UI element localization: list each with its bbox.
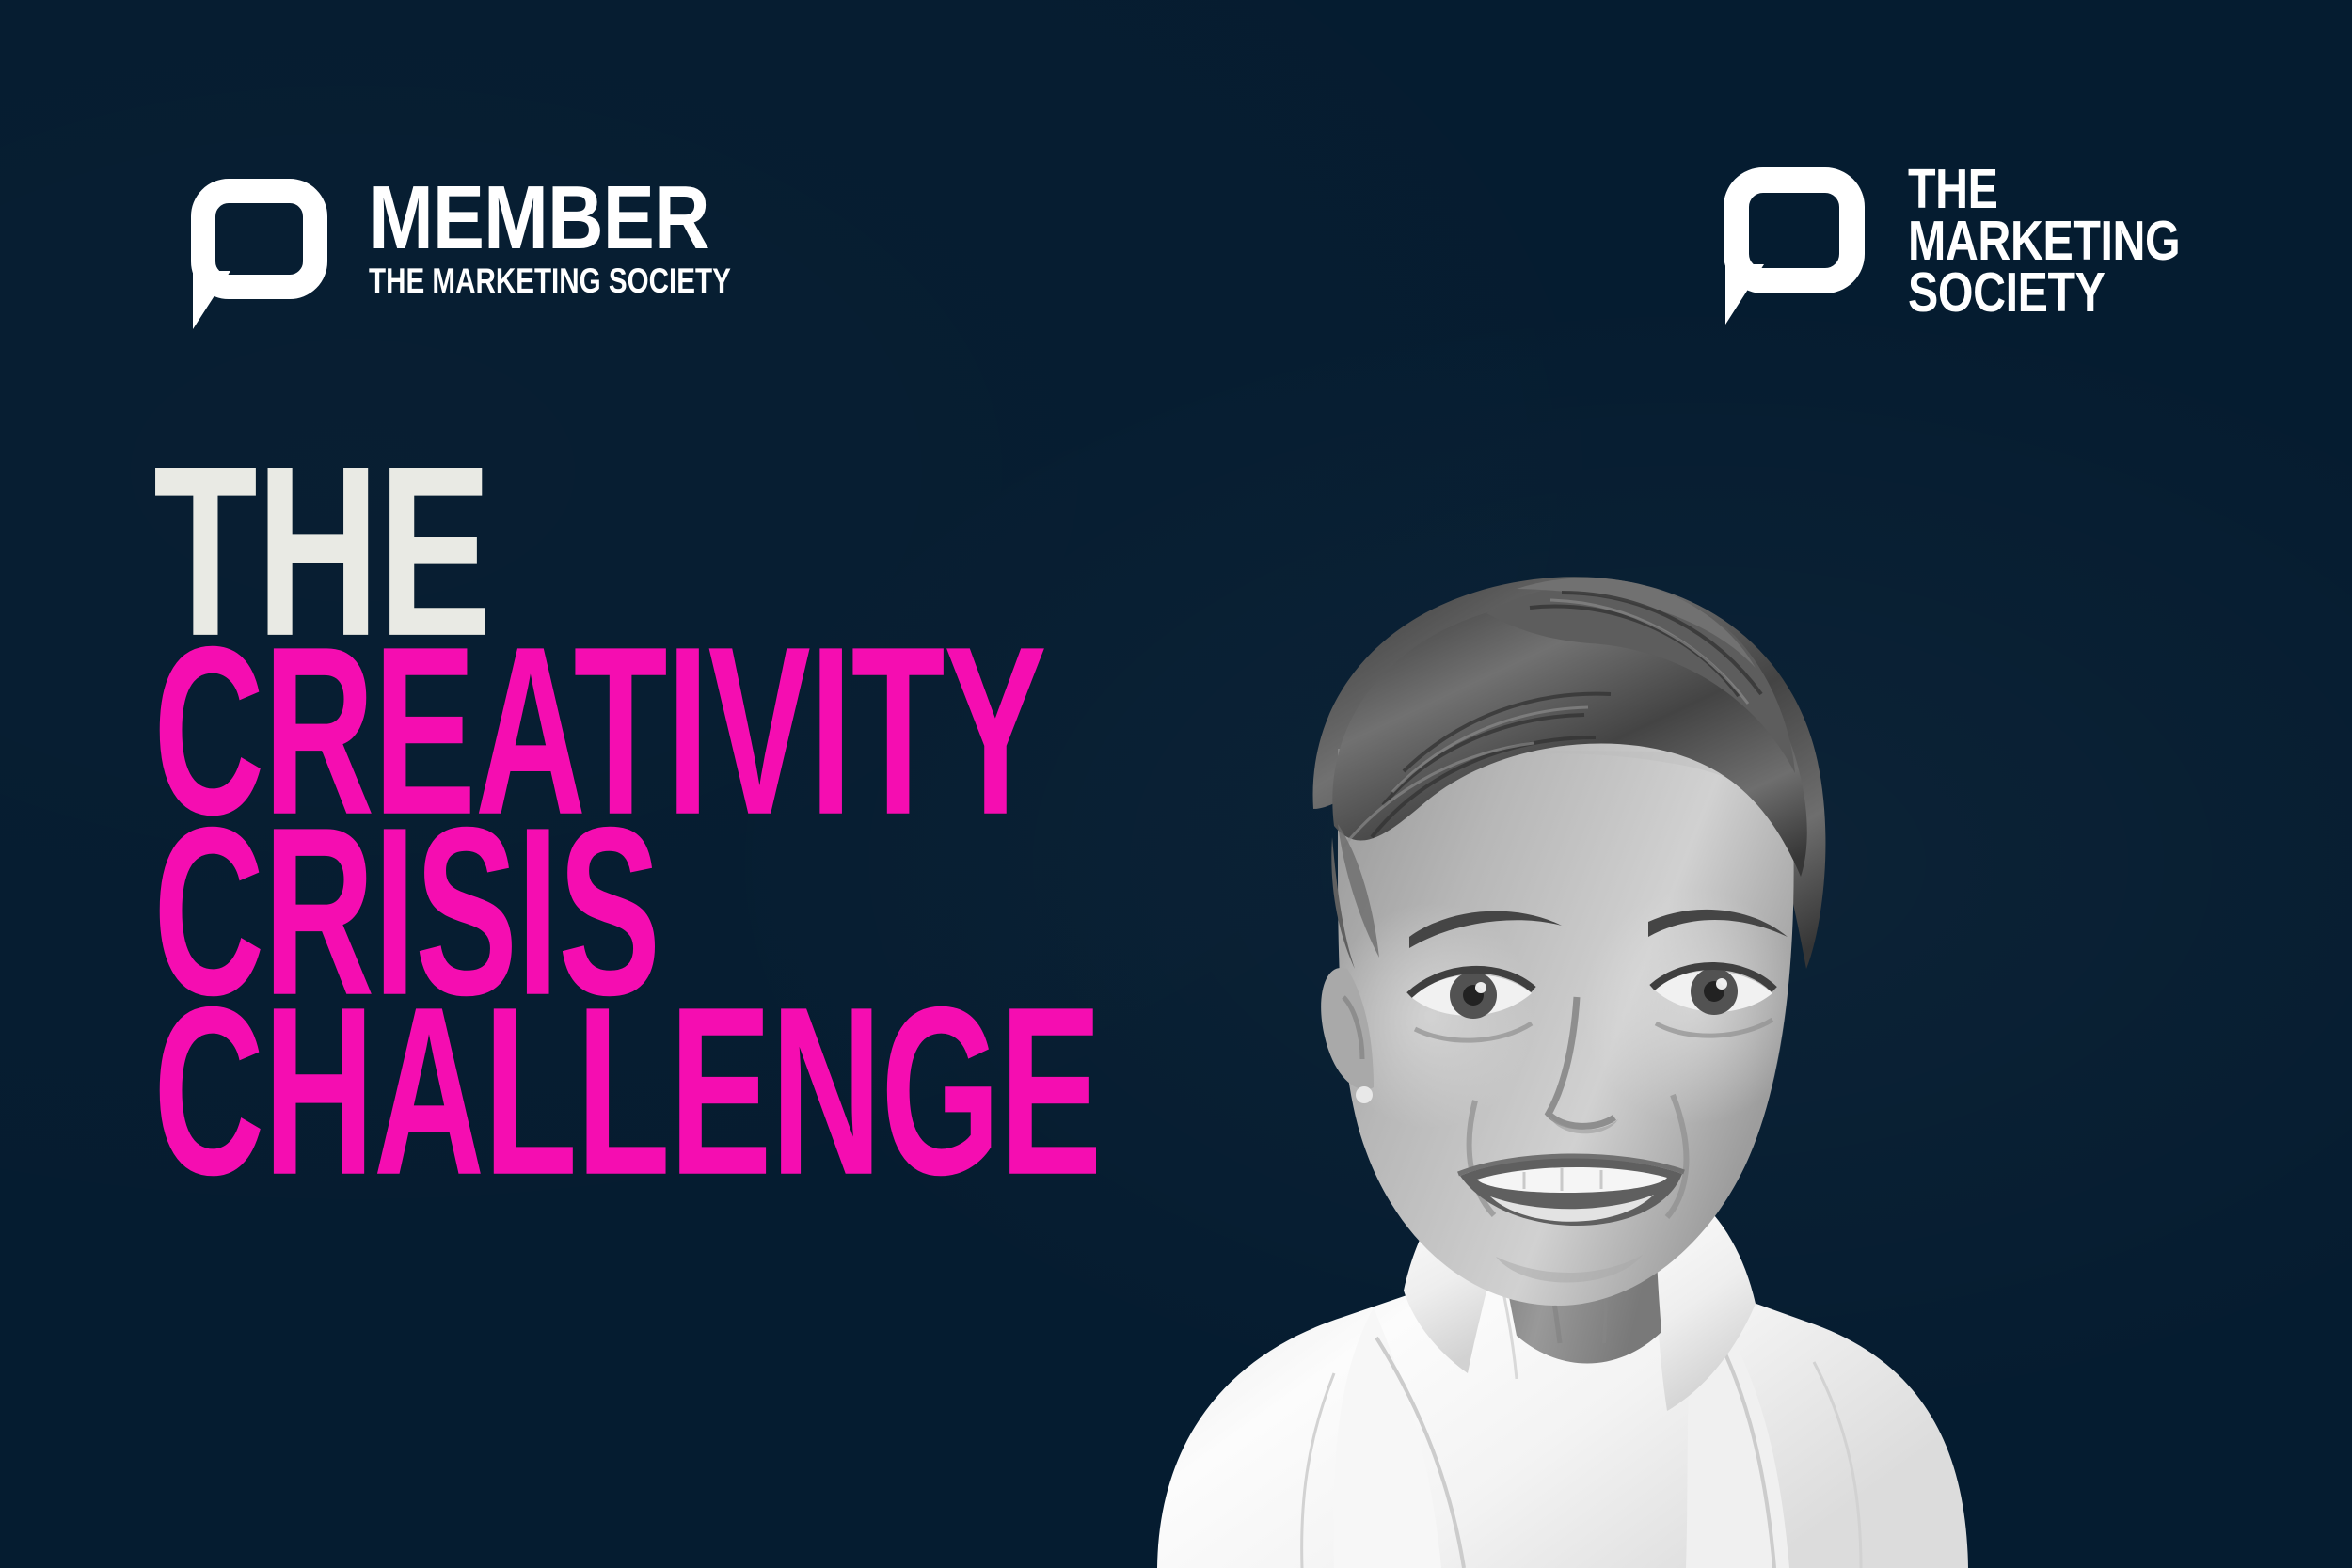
member-logo-text: MEMBER THE MARKETING SOCIETY [369, 182, 821, 298]
speech-bubble-tail [193, 271, 230, 329]
speech-bubble-tail [1725, 264, 1764, 325]
member-badge-logo: MEMBER THE MARKETING SOCIETY [191, 179, 821, 329]
promo-graphic-canvas: MEMBER THE MARKETING SOCIETY THE MARKETI… [0, 0, 2352, 1568]
speech-bubble-icon [1724, 167, 1865, 325]
marketing-society-logo: THE MARKETING SOCIETY [1724, 167, 2240, 325]
headline-line-challenge: CHALLENGE [153, 991, 1101, 1191]
member-subtitle: THE MARKETING SOCIETY [369, 263, 731, 298]
headline-block: THE CREATIVITY CRISIS CHALLENGE [153, 451, 1600, 1187]
society-line-3: SOCIETY [1908, 267, 2180, 319]
speech-bubble-icon [191, 179, 327, 329]
member-word: MEMBER [369, 182, 758, 255]
marketing-society-logo-text: THE MARKETING SOCIETY [1908, 164, 2240, 319]
society-line-2: MARKETING [1908, 215, 2180, 267]
society-line-1: THE [1908, 164, 2180, 215]
